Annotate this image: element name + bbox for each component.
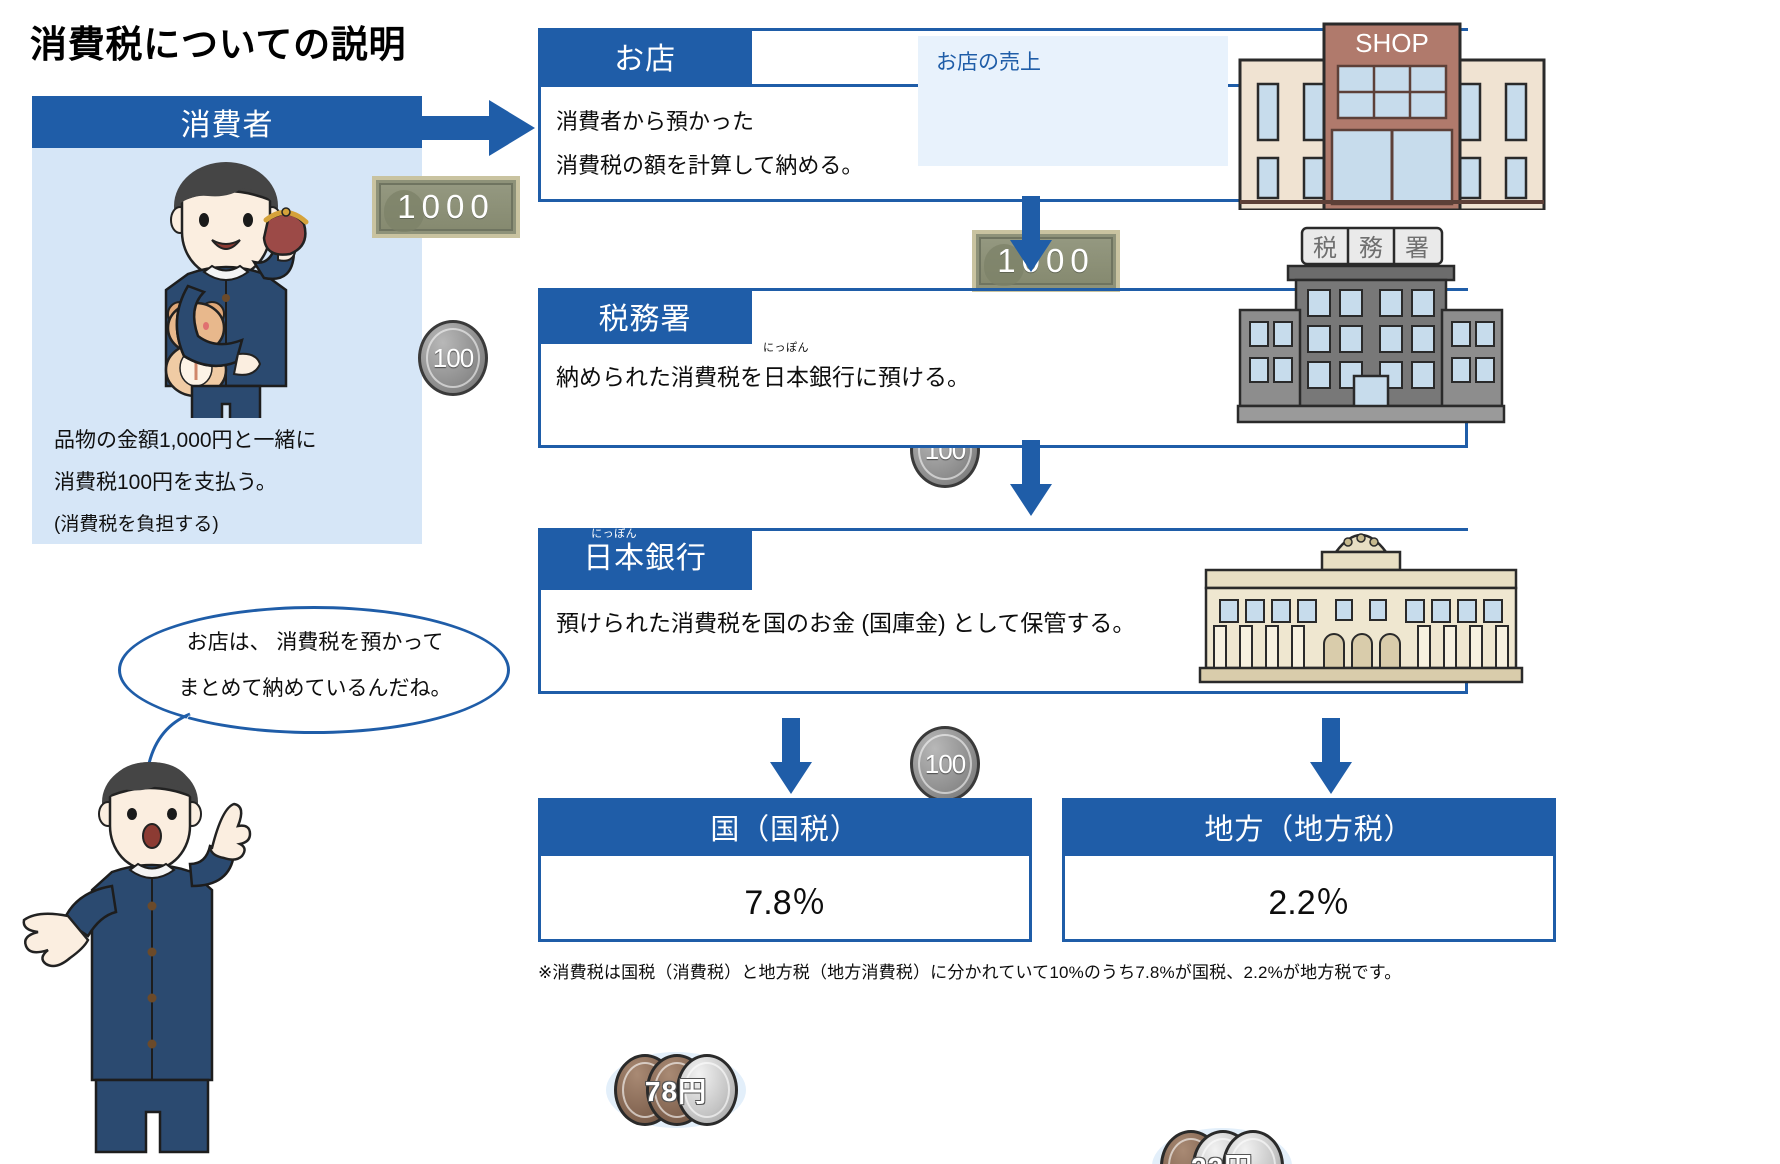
bank-heading: にっぽん日本銀行	[538, 528, 752, 590]
speech-bubble-text: お店は、 消費税を預かって まとめて納めているんだね。	[150, 620, 480, 712]
tax-office-text-pre: 納められた消費税を	[556, 364, 763, 390]
svg-text:務: 務	[1359, 235, 1383, 262]
svg-text:税: 税	[1313, 235, 1337, 262]
coin-100-consumer: 100	[418, 320, 488, 396]
consumer-card: 消費者	[32, 96, 422, 544]
tax-office-building-illustration: 税 務 署	[1236, 226, 1546, 448]
speech-line-2: まとめて納めているんだね。	[150, 666, 480, 712]
ruby-reading: にっぽん	[763, 343, 809, 354]
national-tax-heading: 国（国税）	[538, 798, 1032, 856]
speech-line-1: お店は、 消費税を預かって	[150, 620, 480, 666]
coin-100-tax-to-bank: 100	[910, 726, 980, 802]
shop-sign-text: SHOP	[1355, 28, 1429, 58]
arrow-bank-to-local	[1310, 718, 1352, 794]
shop-heading: お店	[538, 28, 752, 84]
banknote-value: 1000	[397, 188, 494, 226]
consumer-description: 品物の金額1,000円と一緒に 消費税100円を支払う。 (消費税を負担する)	[54, 420, 404, 546]
ruby-base: 日本	[583, 542, 645, 575]
ruby-base: 日本	[763, 364, 809, 390]
local-tax-value: 2.2％	[1062, 856, 1556, 942]
local-tax-heading: 地方（地方税）	[1062, 798, 1556, 856]
ruby-reading: にっぽん	[583, 529, 645, 540]
coin-cluster-label: 78円	[606, 1070, 746, 1110]
consumer-line-1: 品物の金額1,000円と一緒に	[54, 420, 404, 462]
shop-line-1: 消費者から預かった	[556, 100, 863, 144]
arrow-consumer-to-shop	[415, 100, 535, 156]
arrow-shop-to-tax-office	[1010, 196, 1052, 272]
bank-heading-rest: 銀行	[645, 542, 707, 575]
coin-cluster-label: 22円	[1152, 1146, 1292, 1164]
national-tax-value: 7.8％	[538, 856, 1032, 942]
consumer-line-2: 消費税100円を支払う。	[54, 462, 404, 504]
arrow-bank-to-national	[770, 718, 812, 794]
page-title: 消費税についての説明	[30, 14, 406, 68]
ruby-nippon-taxoffice: にっぽん日本	[763, 358, 809, 392]
ruby-nippon-bank: にっぽん日本	[583, 544, 645, 574]
consumer-person-illustration	[92, 158, 360, 418]
consumer-line-3: (消費税を負担する)	[54, 504, 404, 546]
shop-description: 消費者から預かった 消費税の額を計算して納める。	[556, 100, 863, 188]
consumer-heading: 消費者	[32, 96, 422, 148]
svg-text:署: 署	[1405, 235, 1429, 262]
bank-description: 預けられた消費税を国のお金 (国庫金) として保管する。	[556, 604, 1135, 638]
boy-pointing-illustration	[10, 740, 310, 1160]
coin-cluster-78-yen: 78円	[606, 1052, 746, 1128]
coin-value: 100	[925, 749, 965, 780]
bank-of-japan-building-illustration	[1196, 516, 1526, 692]
shop-building-illustration: SHOP	[1232, 22, 1552, 210]
shop-sales-label: お店の売上	[936, 46, 1041, 76]
footnote: ※消費税は国税（消費税）と地方税（地方消費税）に分かれていて10%のうち7.8%…	[538, 958, 1598, 983]
tax-office-text-post: 銀行に預ける。	[809, 364, 970, 390]
arrow-tax-office-to-bank	[1010, 440, 1052, 516]
banknote-1000-consumer: 1000	[372, 176, 520, 238]
tax-office-description: 納められた消費税をにっぽん日本銀行に預ける。	[556, 358, 970, 392]
infographic-root: 消費税についての説明 消費者	[0, 0, 1780, 1164]
coin-value: 100	[433, 343, 473, 374]
consumer-body: 品物の金額1,000円と一緒に 消費税100円を支払う。 (消費税を負担する)	[32, 148, 422, 544]
coin-cluster-22-yen: 22円	[1152, 1128, 1292, 1164]
tax-office-heading: 税務署	[538, 288, 752, 344]
shop-line-2: 消費税の額を計算して納める。	[556, 144, 863, 188]
